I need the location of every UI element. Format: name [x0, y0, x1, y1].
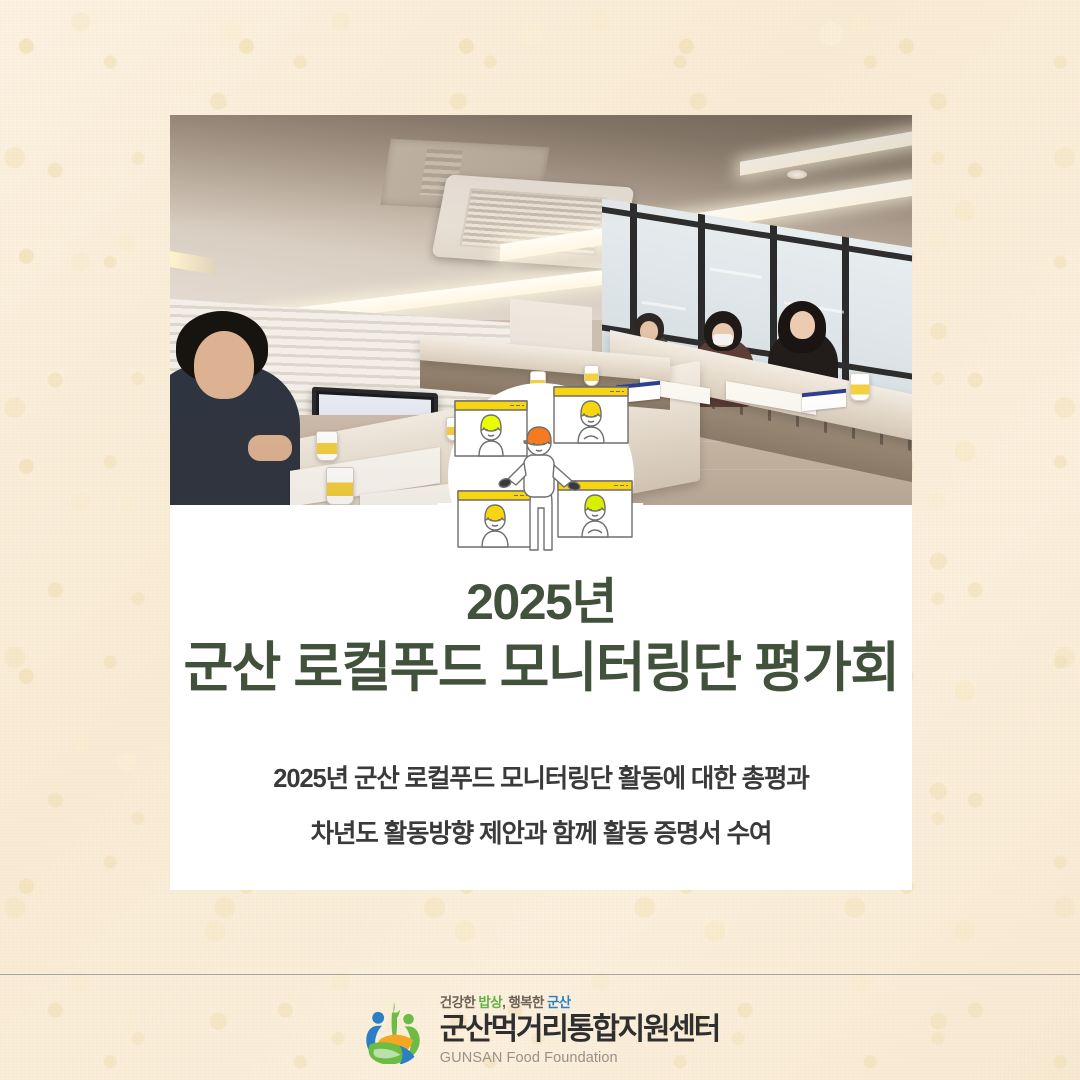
video-window-top-left [455, 401, 527, 456]
tagline-part-2: , 행복한 [502, 995, 547, 1010]
foreground-participant-face [194, 331, 254, 399]
tagline-highlight-2: 군산 [547, 995, 571, 1010]
subtitle-line-2: 차년도 활동방향 제안과 함께 활동 증명서 수여 [170, 807, 912, 862]
foreground-participant-hand [248, 435, 292, 461]
video-window-top-right [554, 387, 628, 443]
coffee-cup [326, 467, 354, 505]
page-background: 2025년 군산로컬푸드모니터링단 평가회 [0, 0, 1080, 1080]
title-line-2: 군산 로컬푸드 모니터링단 평가회 [170, 634, 912, 703]
tagline-part-1: 건강한 [440, 995, 479, 1010]
content-card: 2025년 군산로컬푸드모니터링단 평가회 [170, 115, 912, 890]
face-mask [713, 334, 733, 345]
coffee-cup [850, 373, 870, 401]
footer-tagline: 건강한 밥상, 행복한 군산 [440, 995, 571, 1011]
illustration-svg [438, 383, 643, 555]
organization-name-english: GUNSAN Food Foundation [440, 1050, 618, 1067]
video-window-bottom-left [458, 491, 532, 547]
page-title: 2025년 군산 로컬푸드 모니터링단 평가회 [170, 570, 912, 703]
tagline-highlight-1: 밥상 [478, 995, 502, 1010]
participant-face [790, 311, 815, 339]
subtitle-line-1: 2025년 군산 로컬푸드 모니터링단 활동에 대한 총평과 [170, 752, 912, 807]
gunsan-food-foundation-logo-icon [361, 998, 427, 1064]
page-subtitle: 2025년 군산 로컬푸드 모니터링단 활동에 대한 총평과 차년도 활동방향 … [170, 752, 912, 862]
title-line-1: 2025년 [170, 570, 912, 634]
online-meeting-illustration [438, 383, 643, 555]
footer: 건강한 밥상, 행복한 군산 군산먹거리통합지원센터 GUNSAN Food F… [0, 982, 1080, 1080]
footer-divider [0, 974, 1080, 975]
coffee-cup [316, 431, 338, 461]
ceiling-sensor [787, 170, 807, 179]
video-window-bottom-right [558, 481, 632, 537]
footer-logo-text: 건강한 밥상, 행복한 군산 군산먹거리통합지원센터 GUNSAN Food F… [440, 995, 719, 1067]
organization-name: 군산먹거리통합지원센터 [440, 1013, 719, 1047]
